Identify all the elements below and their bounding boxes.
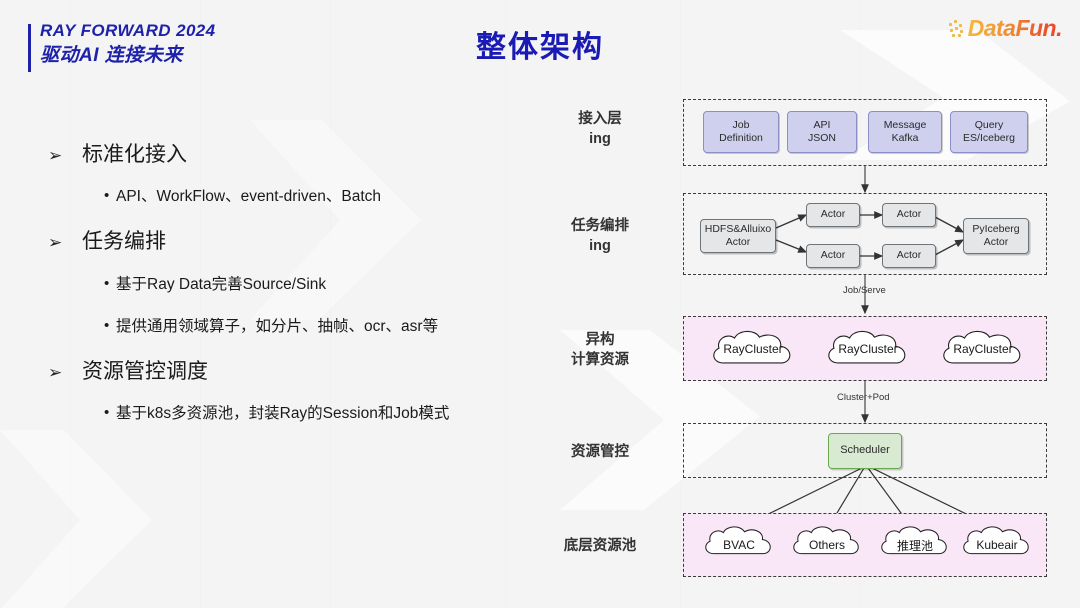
cloud-label: RayCluster <box>838 342 897 356</box>
architecture-diagram: 接入层 ing Job Definition API JSON Message … <box>0 0 1080 608</box>
cloud-label: Kubeair <box>976 538 1017 552</box>
cloud-label: Others <box>809 538 845 552</box>
cloud-others[interactable]: Others <box>788 524 866 566</box>
node-actor-1[interactable]: Actor <box>806 203 860 227</box>
cloud-kubeair[interactable]: Kubeair <box>958 524 1036 566</box>
cloud-label: BVAC <box>723 538 755 552</box>
cloud-raycluster-3[interactable]: RayCluster <box>937 328 1029 370</box>
node-pyiceberg-actor[interactable]: PyIceberg Actor <box>963 218 1029 254</box>
node-scheduler[interactable]: Scheduler <box>828 433 902 469</box>
node-actor-3[interactable]: Actor <box>806 244 860 268</box>
layer-label-resource-pool: 底层资源池 <box>540 537 660 557</box>
layer-label-compute: 异构 计算资源 <box>540 331 660 370</box>
layer-label-resource-control: 资源管控 <box>540 443 660 463</box>
cloud-label: 推理池 <box>897 537 933 554</box>
node-hdfs-alluixo-actor[interactable]: HDFS&Alluixo Actor <box>700 219 776 253</box>
cloud-bvac[interactable]: BVAC <box>700 524 778 566</box>
layer-label-orchestration: 任务编排 ing <box>540 217 660 256</box>
cloud-label: RayCluster <box>723 342 782 356</box>
node-query-es-iceberg[interactable]: Query ES/Iceberg <box>950 111 1028 153</box>
cloud-inference-pool[interactable]: 推理池 <box>876 524 954 566</box>
node-actor-2[interactable]: Actor <box>882 203 936 227</box>
node-message-kafka[interactable]: Message Kafka <box>868 111 942 153</box>
node-actor-4[interactable]: Actor <box>882 244 936 268</box>
edge-label-job-serve: Job/Serve <box>843 285 886 296</box>
cloud-label: RayCluster <box>953 342 1012 356</box>
layer-label-access: 接入层 ing <box>540 110 660 149</box>
node-api-json[interactable]: API JSON <box>787 111 857 153</box>
slide-canvas: RAY FORWARD 2024 驱动AI 连接未来 整体架构 DataFun.… <box>0 0 1080 608</box>
node-job-definition[interactable]: Job Definition <box>703 111 779 153</box>
edge-label-cluster-pod: Cluster+Pod <box>837 392 890 403</box>
cloud-raycluster-1[interactable]: RayCluster <box>707 328 799 370</box>
cloud-raycluster-2[interactable]: RayCluster <box>822 328 914 370</box>
